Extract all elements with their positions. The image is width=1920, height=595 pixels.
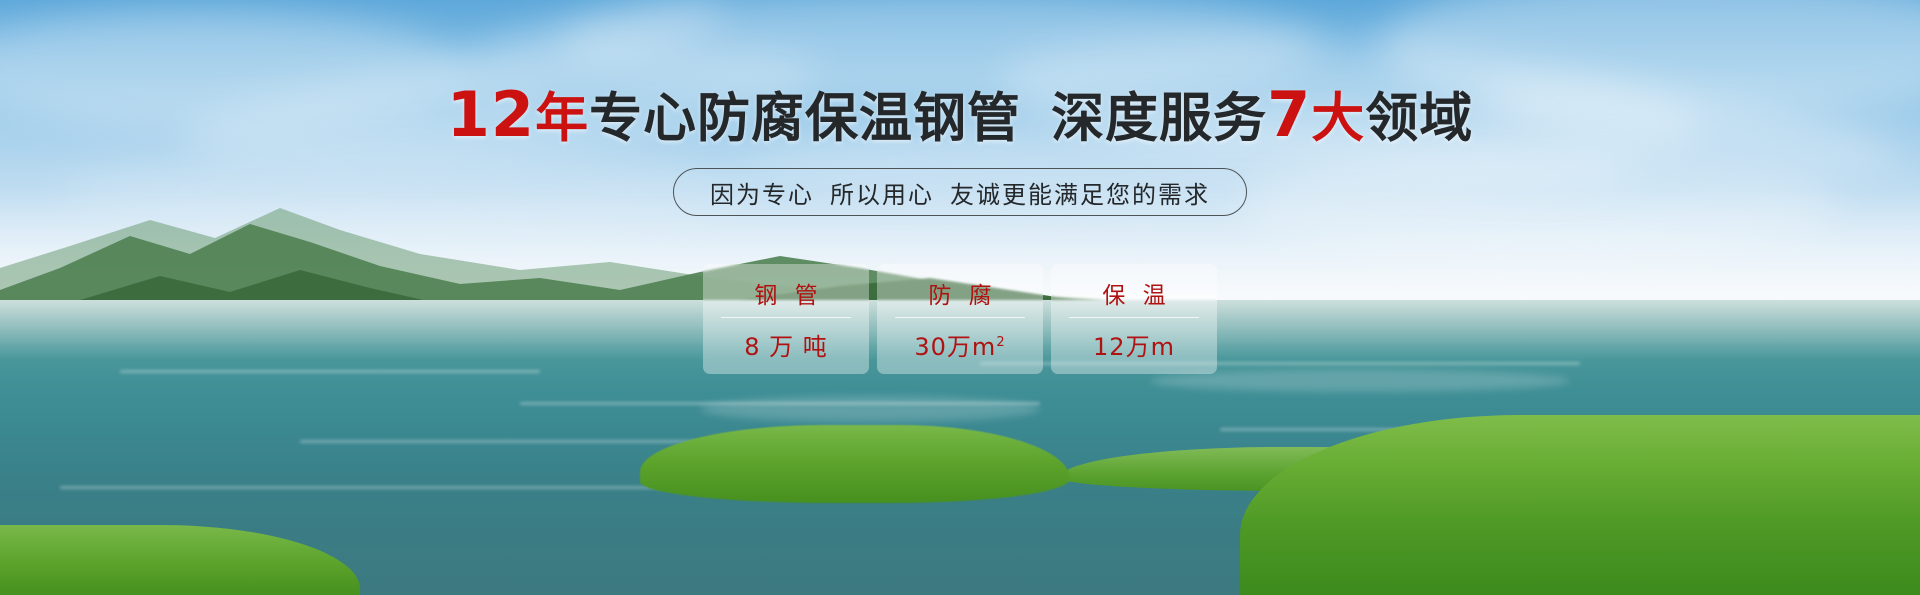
- stat-card-divider: [721, 317, 851, 318]
- stat-card-anticorrosion: 防 腐 30万m2: [877, 264, 1043, 374]
- stat-card-divider: [895, 317, 1025, 318]
- stat-card-value: 30万m2: [914, 327, 1005, 362]
- stat-card-value: 8 万 吨: [744, 327, 828, 362]
- stat-card-divider: [1069, 317, 1199, 318]
- stat-card-value-main: 12万m: [1093, 333, 1175, 361]
- subtitle-part-three: 友诚更能满足您的需求: [950, 175, 1210, 210]
- banner-headline: 12年专心防腐保温钢管深度服务7大领域: [0, 86, 1920, 148]
- banner-subtitle-pill: 因为专心 所以用心 友诚更能满足您的需求: [673, 168, 1247, 216]
- subtitle-part-two: 所以用心: [830, 175, 934, 210]
- banner-content: 12年专心防腐保温钢管深度服务7大领域 因为专心 所以用心 友诚更能满足您的需求…: [0, 0, 1920, 595]
- stat-card-value-main: 8 万 吨: [744, 333, 828, 361]
- headline-years-unit: 年: [535, 88, 589, 149]
- headline-phrase-three: 领域: [1365, 88, 1473, 149]
- stat-card-steel-pipe: 钢 管 8 万 吨: [703, 264, 869, 374]
- stat-card-title: 防 腐: [923, 276, 996, 310]
- stat-card-insulation: 保 温 12万m: [1051, 264, 1217, 374]
- stat-card-value-superscript: 2: [996, 335, 1005, 350]
- headline-fields-unit: 大: [1311, 88, 1365, 149]
- headline-phrase-two: 深度服务: [1051, 88, 1267, 149]
- subtitle-part-one: 因为专心: [710, 175, 814, 210]
- stat-card-value-main: 30万m: [914, 333, 996, 361]
- headline-years-number: 12: [447, 78, 535, 151]
- stat-card-value: 12万m: [1093, 327, 1175, 362]
- stat-card-title: 保 温: [1097, 276, 1170, 310]
- hero-banner: 12年专心防腐保温钢管深度服务7大领域 因为专心 所以用心 友诚更能满足您的需求…: [0, 0, 1920, 595]
- headline-fields-number: 7: [1267, 78, 1311, 151]
- stat-card-group: 钢 管 8 万 吨 防 腐 30万m2 保 温 12万m: [703, 264, 1217, 374]
- stat-card-title: 钢 管: [749, 276, 822, 310]
- headline-phrase-one: 专心防腐保温钢管: [589, 88, 1021, 149]
